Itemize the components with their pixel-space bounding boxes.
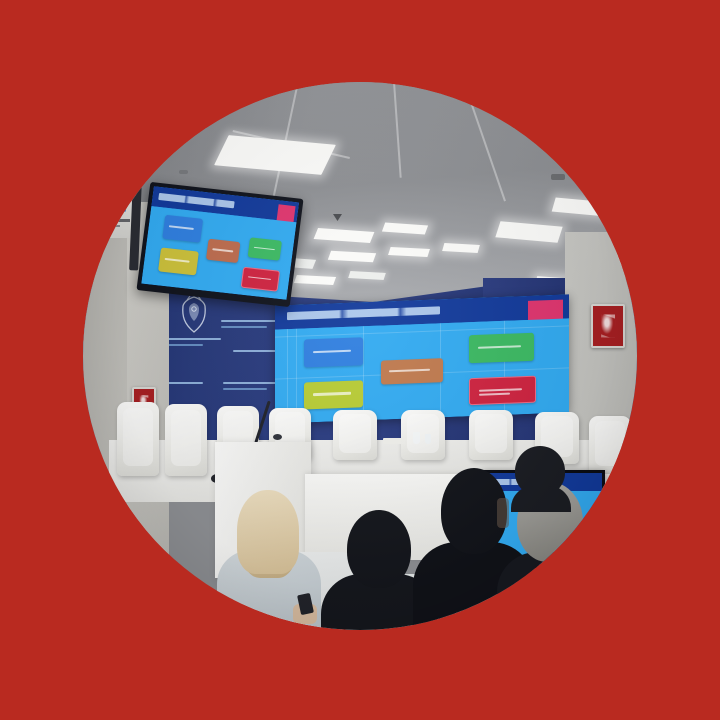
name-plate (383, 438, 405, 444)
conference-chair (165, 404, 207, 476)
slide-box-green (248, 237, 283, 261)
ceiling-sensor-icon (179, 170, 188, 174)
conference-chair (469, 410, 513, 460)
person-torso (497, 552, 605, 630)
slide-box-yellowgreen (304, 381, 363, 410)
person-blonde-with-phone (215, 482, 335, 630)
slide-box-red (469, 376, 536, 405)
coat-of-arms-emblem (179, 294, 209, 336)
slide-box-red (241, 267, 280, 292)
main-video-wall[interactable]: → (275, 294, 569, 423)
circular-photo-mask: → (83, 82, 637, 630)
conference-chair (589, 416, 631, 474)
wall-text-line (233, 350, 277, 352)
slide-box-blue (162, 215, 203, 243)
person-shoulder (511, 486, 571, 512)
overhead-tv[interactable]: → (136, 182, 303, 307)
conference-chair (333, 410, 377, 460)
slide-box-tan (381, 359, 443, 385)
conference-chair (117, 402, 159, 476)
water-glass (413, 432, 420, 444)
microphone-head-icon (273, 434, 282, 440)
wall-text-line (223, 388, 267, 390)
person-back-row-right (511, 446, 571, 506)
water-glass (425, 434, 431, 444)
wall-text-line (221, 320, 281, 322)
slide-box-yellowgreen (158, 248, 199, 276)
slide-box-blue (304, 337, 363, 368)
ceiling-vent (551, 174, 565, 180)
presentation-slide: → (141, 186, 299, 299)
conference-chair (401, 410, 445, 460)
person-hair (237, 490, 299, 574)
person-head (347, 510, 411, 588)
slide-body (275, 318, 569, 424)
wall-text-line (221, 326, 267, 328)
slide-box-green (469, 333, 534, 364)
moscow-coat-of-arms-plaque (591, 304, 625, 348)
presentation-slide: → (275, 294, 569, 423)
slide-box-tan (206, 239, 241, 263)
screenshot-canvas: → (0, 0, 720, 720)
slide-body (141, 206, 296, 300)
